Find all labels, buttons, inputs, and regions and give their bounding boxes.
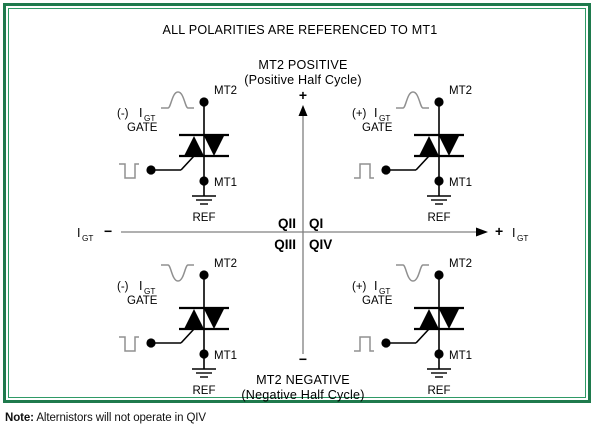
q1-mt1-label: MT1	[449, 177, 472, 189]
q2-gate-current-label: I	[139, 106, 143, 120]
q4-gate-label: GATE	[362, 295, 393, 307]
q4-gate-pulse-icon	[354, 337, 374, 351]
q2-gate-pulse-icon	[119, 164, 139, 178]
axis-top-label-secondary: (Positive Half Cycle)	[244, 73, 362, 87]
right-axis-sign: +	[495, 223, 503, 239]
q2-mt2-node	[199, 97, 208, 106]
right-axis-current-subscript: GT	[517, 234, 528, 243]
q1-gate-node	[381, 165, 390, 174]
q4-triac-left-triangle	[419, 309, 439, 329]
quadrant-label-qii: QII	[278, 216, 296, 231]
q3-mt2-node	[199, 270, 208, 279]
q3-mt2-waveform-icon	[161, 265, 194, 281]
circuit-quadrant-4: MT2 (+) I GT GATE MT1 REF	[352, 258, 472, 397]
horizontal-axis-arrowhead	[476, 228, 488, 237]
left-axis-sign: −	[104, 223, 112, 239]
q2-gate-node	[146, 165, 155, 174]
left-axis-current-label: I	[77, 226, 81, 240]
note: Note: Alternistors will not operate in Q…	[5, 412, 595, 424]
q3-polarity-label: (-)	[117, 281, 129, 293]
q1-mt2-waveform-icon	[396, 92, 429, 108]
q4-gate-node	[381, 338, 390, 347]
quadrant-label-qiv: QIV	[309, 237, 332, 252]
q4-polarity-label: (+)	[352, 281, 367, 293]
q3-mt1-label: MT1	[214, 350, 237, 362]
q1-polarity-label: (+)	[352, 108, 367, 120]
page-title: ALL POLARITIES ARE REFERENCED TO MT1	[162, 23, 437, 37]
vertical-axis-arrowhead	[299, 105, 308, 116]
q2-ref-label: REF	[193, 212, 216, 224]
q2-polarity-label: (-)	[117, 108, 129, 120]
q2-mt1-label: MT1	[214, 177, 237, 189]
q2-mt2-waveform-icon	[161, 92, 194, 108]
note-prefix: Note:	[5, 412, 34, 424]
note-text: Alternistors will not operate in QIV	[36, 412, 206, 424]
q4-mt2-node	[434, 270, 443, 279]
q3-gate-current-label: I	[139, 279, 143, 293]
axis-top-sign: +	[299, 87, 307, 103]
q2-triac-left-triangle	[184, 136, 204, 156]
q2-triac-right-triangle	[204, 136, 224, 156]
q3-triac-left-triangle	[184, 309, 204, 329]
axis-bottom-label-primary: MT2 NEGATIVE	[256, 373, 350, 387]
q1-triac-right-triangle	[439, 136, 459, 156]
axis-top-label-primary: MT2 POSITIVE	[258, 58, 347, 72]
triac-quadrant-diagram: ALL POLARITIES ARE REFERENCED TO MT1 MT2…	[6, 6, 594, 406]
q4-ref-label: REF	[428, 385, 451, 397]
q2-gate-label: GATE	[127, 122, 158, 134]
q1-gate-pulse-icon	[354, 164, 374, 178]
q4-mt2-label: MT2	[449, 258, 472, 270]
q1-mt2-label: MT2	[449, 85, 472, 97]
q3-gate-diagonal-wire	[181, 329, 194, 343]
q1-ref-label: REF	[428, 212, 451, 224]
left-axis-current-subscript: GT	[82, 234, 93, 243]
q1-triac-left-triangle	[419, 136, 439, 156]
axis-bottom-label-secondary: (Negative Half Cycle)	[241, 388, 364, 402]
q1-mt2-node	[434, 97, 443, 106]
q3-gate-node	[146, 338, 155, 347]
q3-triac-right-triangle	[204, 309, 224, 329]
q3-mt2-label: MT2	[214, 258, 237, 270]
right-axis-current-label: I	[512, 226, 516, 240]
q4-mt2-waveform-icon	[396, 265, 429, 281]
q4-triac-right-triangle	[439, 309, 459, 329]
q3-ref-label: REF	[193, 385, 216, 397]
quadrant-label-qiii: QIII	[274, 237, 296, 252]
q3-gate-pulse-icon	[119, 337, 139, 351]
circuit-quadrant-1: MT2 (+) I GT GATE MT1 REF	[352, 85, 472, 224]
q3-gate-label: GATE	[127, 295, 158, 307]
q4-gate-diagonal-wire	[416, 329, 429, 343]
circuit-quadrant-3: MT2 (-) I GT GATE MT1 REF	[117, 258, 237, 397]
q1-gate-current-label: I	[374, 106, 378, 120]
diagram-frame: ALL POLARITIES ARE REFERENCED TO MT1 MT2…	[3, 3, 591, 403]
q1-gate-label: GATE	[362, 122, 393, 134]
q1-gate-diagonal-wire	[416, 156, 429, 170]
q4-mt1-label: MT1	[449, 350, 472, 362]
q4-gate-current-label: I	[374, 279, 378, 293]
circuit-quadrant-2: MT2 (-) I GT GATE MT1	[117, 85, 237, 224]
q2-mt2-label: MT2	[214, 85, 237, 97]
q2-gate-diagonal-wire	[181, 156, 194, 170]
quadrant-label-qi: QI	[309, 216, 323, 231]
